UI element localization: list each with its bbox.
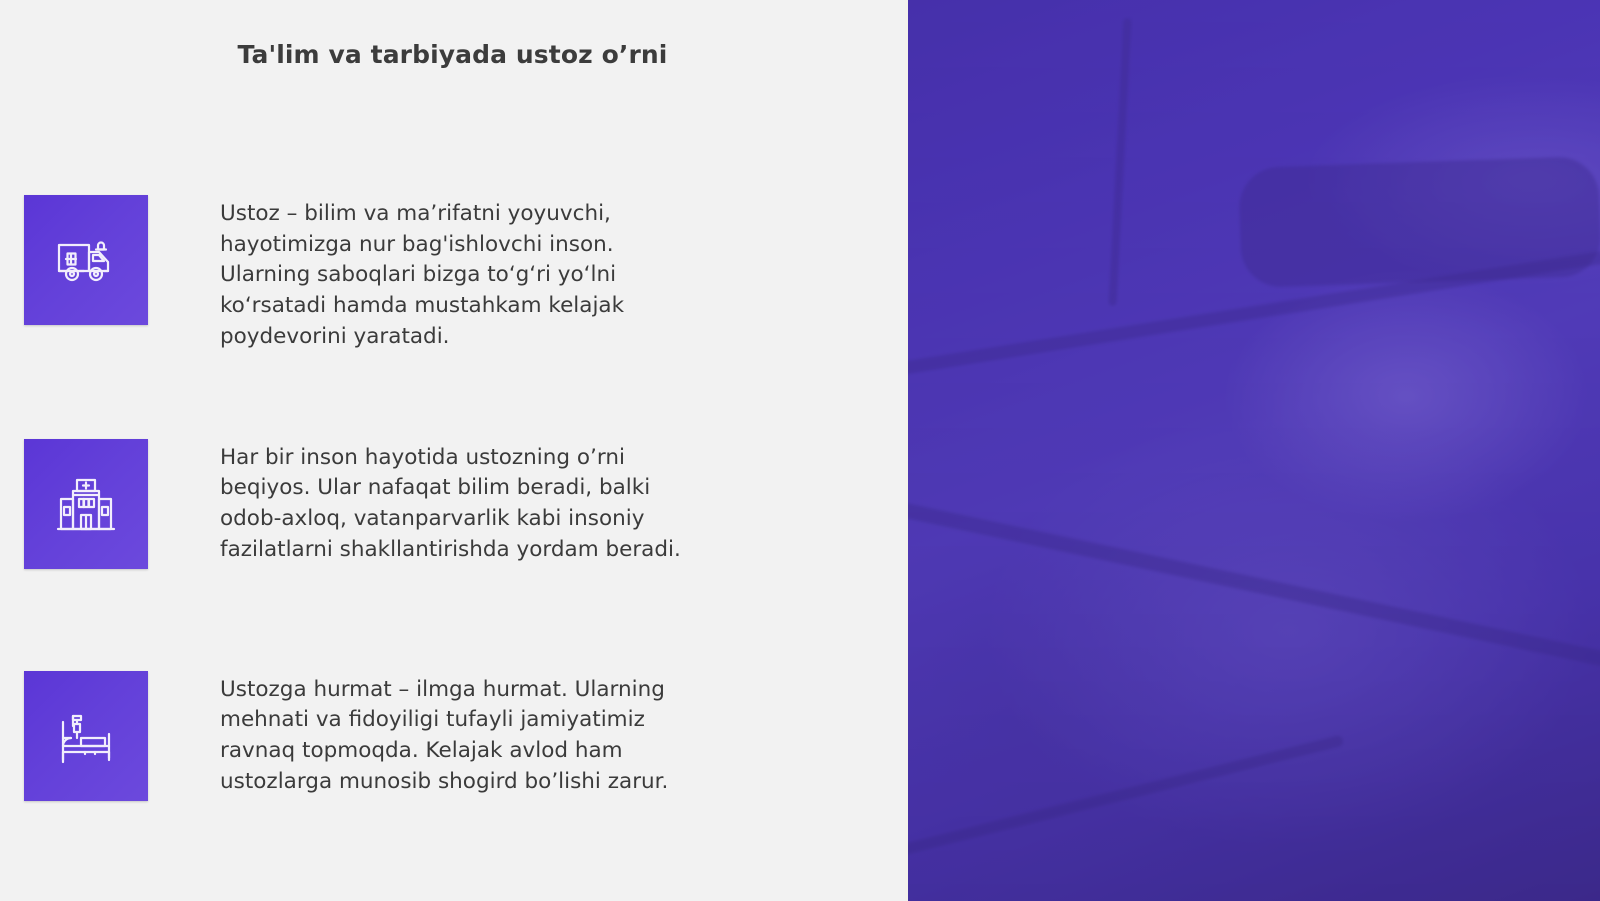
stethoscope-photo [905,0,1600,901]
slide-root: Ta'lim va tarbiyada ustoz o’rni [0,0,1600,901]
ambulance-icon-tile [24,195,148,325]
list-item: Har bir inson hayotida ustozning o’rni b… [24,439,884,569]
page-title: Ta'lim va tarbiyada ustoz o’rni [0,40,905,69]
hospital-bed-icon-tile [24,671,148,801]
list-item-text: Ustozga hurmat – ilmga hurmat. Ularning … [220,671,760,798]
content-pane: Ta'lim va tarbiyada ustoz o’rni [0,0,905,901]
list-item: Ustozga hurmat – ilmga hurmat. Ularning … [24,671,884,801]
hospital-bed-icon [55,708,117,764]
photo-color-overlay [908,0,1600,901]
list-item-text: Har bir inson hayotida ustozning o’rni b… [220,439,780,566]
hospital-building-icon [55,475,117,533]
list-item: Ustoz – bilim va ma’rifatni yoyuvchi, ha… [24,195,884,353]
bullet-list: Ustoz – bilim va ma’rifatni yoyuvchi, ha… [24,195,884,801]
ambulance-icon [55,232,117,288]
list-item-text: Ustoz – bilim va ma’rifatni yoyuvchi, ha… [220,195,720,353]
hospital-building-icon-tile [24,439,148,569]
